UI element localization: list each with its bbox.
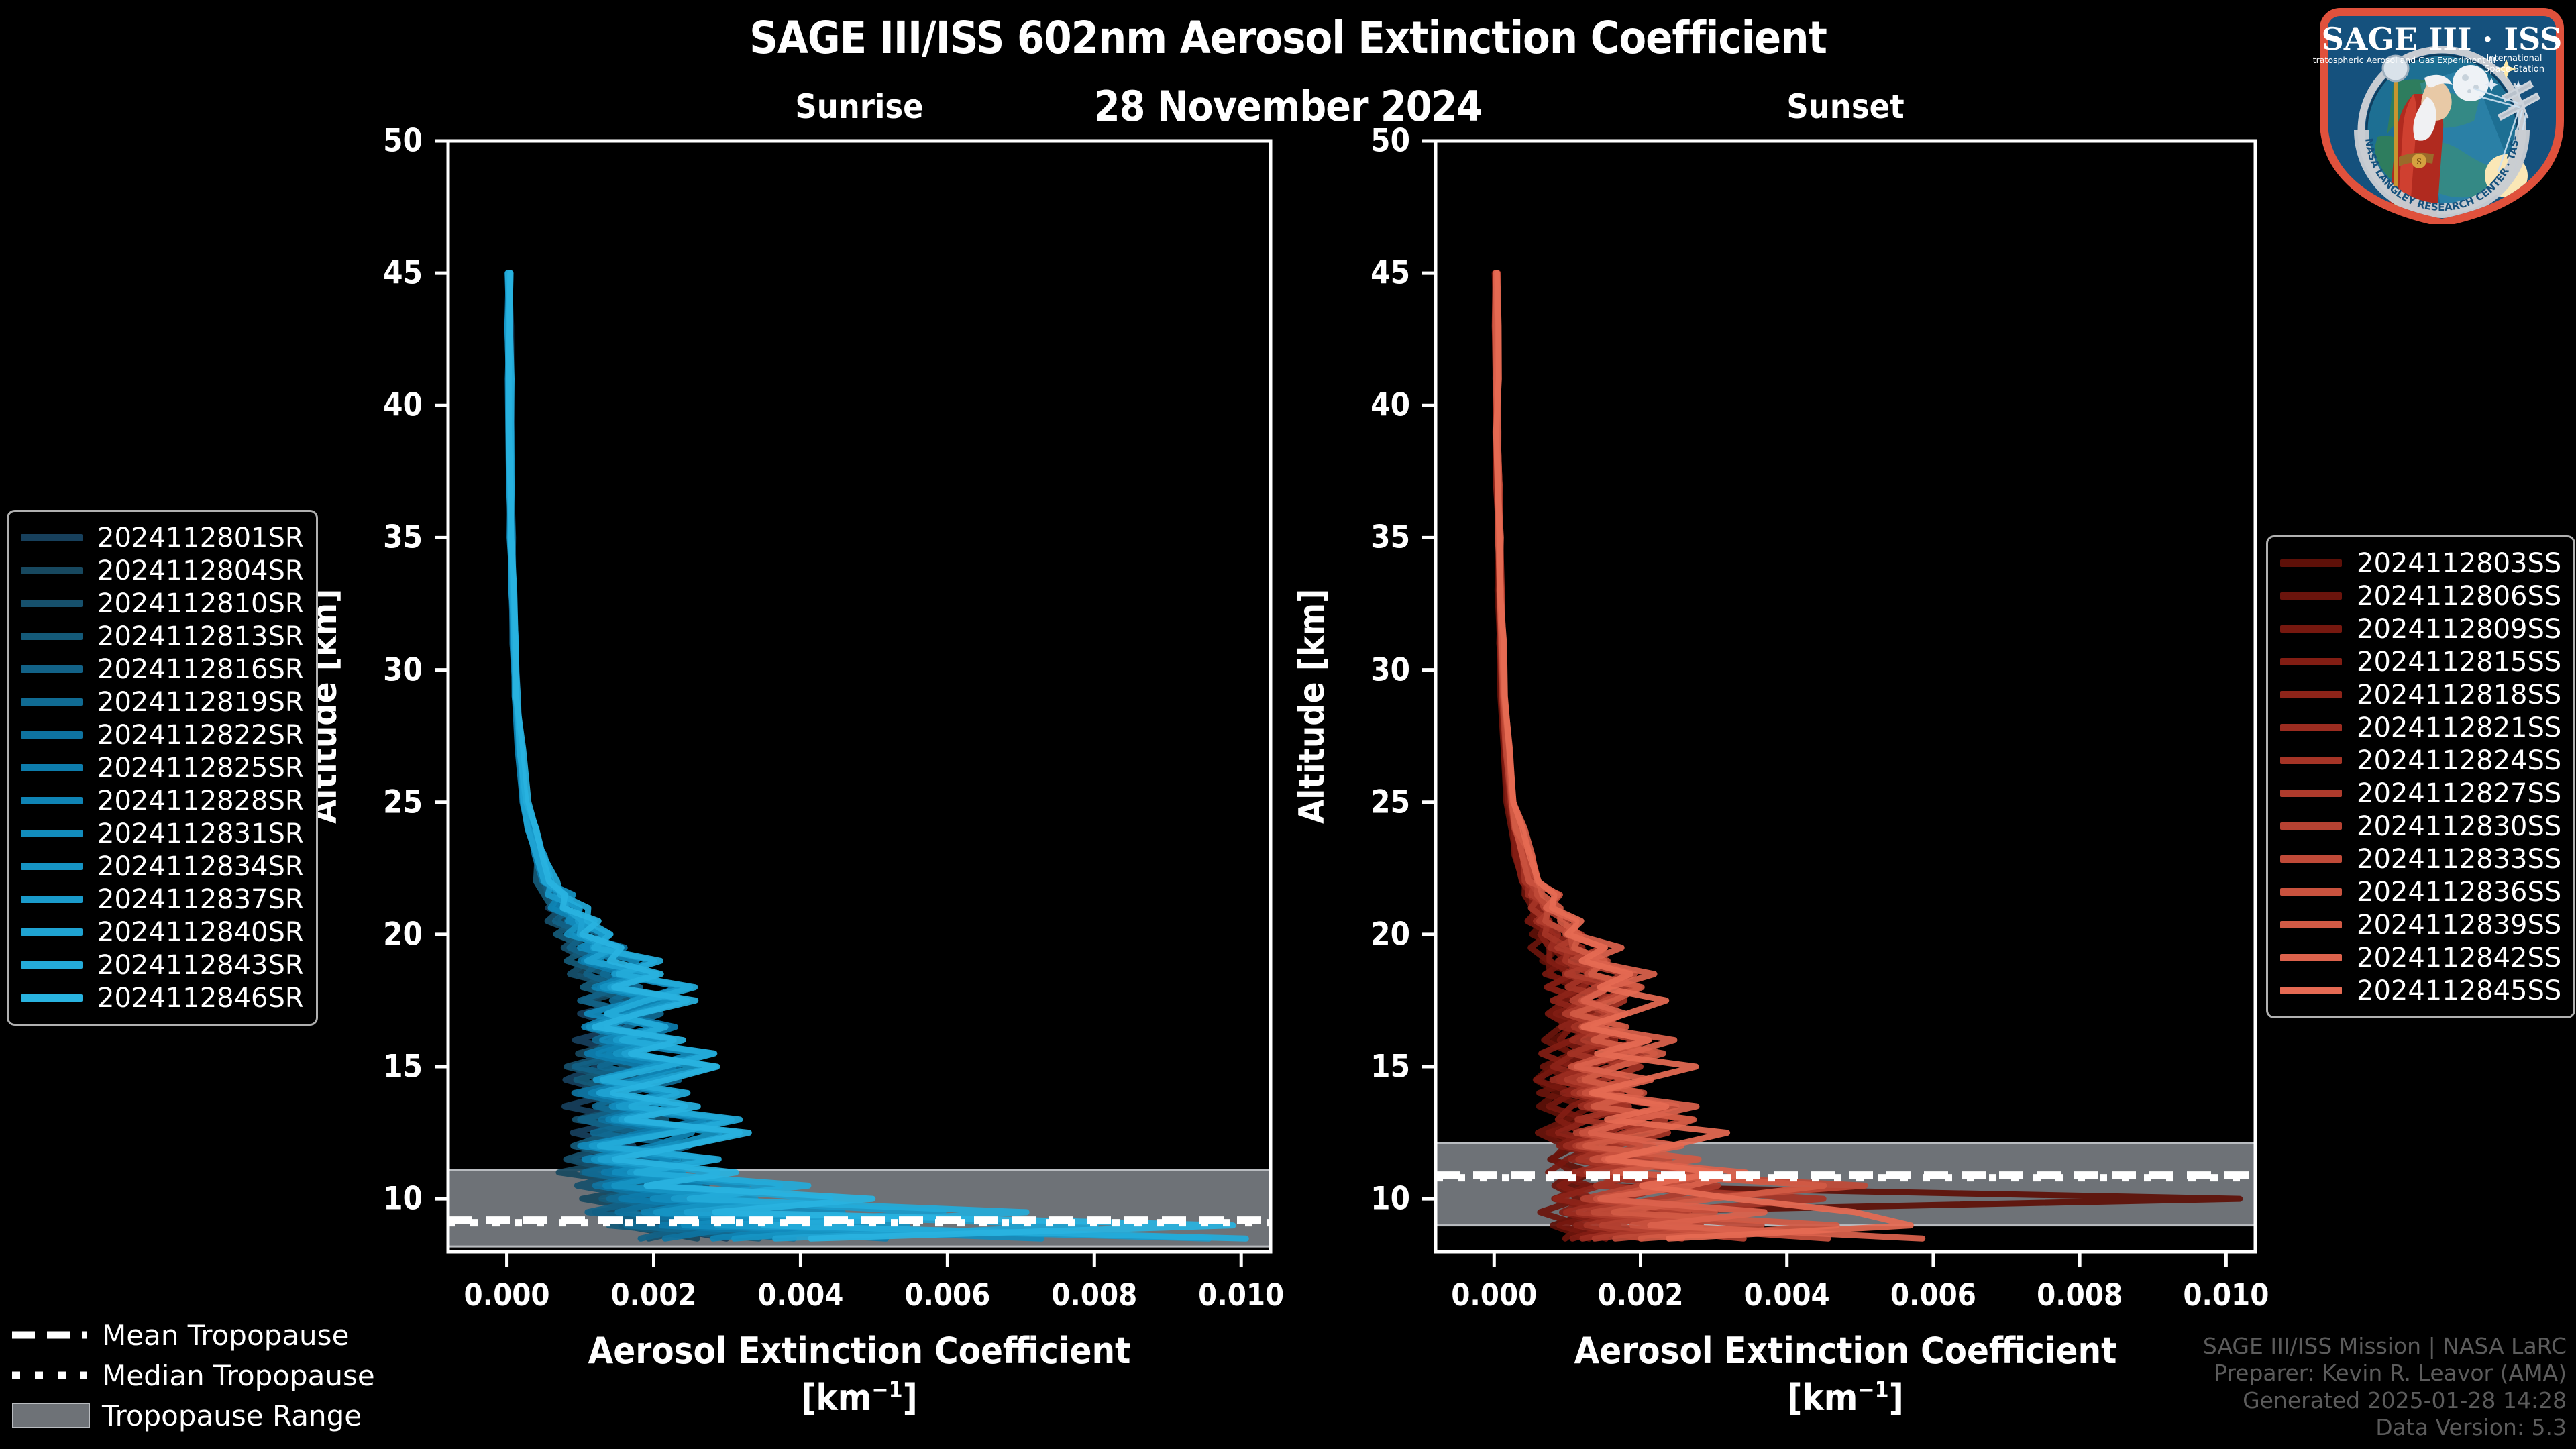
legend-sunrise-item[interactable]: 2024112831SR [21,817,304,850]
legend-color-swatch [2280,790,2342,797]
legend-label: 2024112821SS [2357,712,2561,743]
legend-sunrise-item[interactable]: 2024112801SR [21,521,304,554]
legend-label: 2024112836SS [2357,877,2561,908]
svg-text:S: S [2416,157,2422,166]
legend-sunrise-item[interactable]: 2024112843SR [21,949,304,981]
legend-item-tropopause-range: Tropopause Range [12,1395,375,1436]
dashed-line-icon [12,1326,87,1344]
logo-moon [2453,65,2489,101]
legend-sunset-item[interactable]: 2024112806SS [2280,580,2561,612]
y-tick-label: 20 [335,916,423,953]
credit-line-version: Data Version: 5.3 [2203,1414,2567,1441]
legend-color-swatch [21,830,83,837]
legend-label: 2024112846SR [97,983,304,1014]
legend-color-swatch [21,863,83,870]
legend-color-swatch [21,928,83,936]
y-tick-label: 45 [1323,255,1410,292]
legend-label: 2024112804SR [97,555,304,586]
legend-sunrise-item[interactable]: 2024112840SR [21,916,304,949]
x-tick-label: 0.010 [1154,1277,1328,1313]
legend-color-swatch [21,961,83,969]
legend-sunrise-item[interactable]: 2024112816SR [21,653,304,686]
x-axis-unit: [km−1] [1436,1377,2255,1419]
legend-sunset[interactable]: 2024112803SS2024112806SS2024112809SS2024… [2266,535,2575,1018]
y-tick-label: 30 [1323,651,1410,688]
legend-label: 2024112819SR [97,687,304,718]
legend-label: 2024112840SR [97,917,304,948]
legend-sunset-item[interactable]: 2024112827SS [2280,777,2561,810]
legend-sunrise-item[interactable]: 2024112825SR [21,751,304,784]
legend-label-mean-tropopause: Mean Tropopause [102,1319,349,1352]
legend-label: 2024112828SR [97,786,304,816]
legend-label: 2024112822SR [97,720,304,751]
legend-sunrise-item[interactable]: 2024112837SR [21,883,304,916]
legend-label: 2024112833SS [2357,844,2561,875]
y-tick-label: 45 [335,255,423,292]
y-tick-label: 40 [1323,387,1410,424]
y-tick-label: 40 [335,387,423,424]
legend-sunrise-item[interactable]: 2024112810SR [21,587,304,620]
legend-sunset-item[interactable]: 2024112845SS [2280,974,2561,1007]
y-axis-label: Altitude [km] [1292,589,1332,824]
legend-label: 2024112816SR [97,654,304,685]
legend-label-median-tropopause: Median Tropopause [102,1359,375,1392]
legend-sunrise-item[interactable]: 2024112834SR [21,850,304,883]
legend-label: 2024112827SS [2357,778,2561,809]
y-tick-label: 50 [335,123,423,160]
y-tick-label: 20 [1323,916,1410,953]
legend-color-swatch [21,665,83,673]
legend-label: 2024112834SR [97,851,304,882]
y-tick-label: 30 [335,651,423,688]
legend-sunset-item[interactable]: 2024112821SS [2280,711,2561,744]
y-tick-label: 15 [335,1049,423,1085]
legend-color-swatch [2280,592,2342,600]
legend-label: 2024112806SS [2357,581,2561,612]
legend-sunset-item[interactable]: 2024112803SS [2280,547,2561,580]
legend-color-swatch [21,633,83,640]
y-tick-label: 25 [335,784,423,820]
legend-label: 2024112839SS [2357,910,2561,941]
legend-label: 2024112830SS [2357,811,2561,842]
legend-sunset-item[interactable]: 2024112836SS [2280,875,2561,908]
legend-sunset-item[interactable]: 2024112830SS [2280,810,2561,843]
y-tick-label: 10 [335,1181,423,1218]
y-tick-label: 25 [1323,784,1410,820]
legend-label: 2024112845SS [2357,975,2561,1006]
legend-label: 2024112843SR [97,950,304,981]
y-tick-label: 35 [335,519,423,556]
legend-color-swatch [2280,987,2342,994]
legend-sunset-item[interactable]: 2024112809SS [2280,612,2561,645]
range-patch-icon [12,1407,87,1424]
legend-color-swatch [21,797,83,804]
legend-color-swatch [2280,921,2342,928]
legend-color-swatch [21,534,83,541]
legend-tropopause: Mean Tropopause Median Tropopause Tropop… [12,1315,375,1436]
legend-color-swatch [2280,757,2342,764]
legend-color-swatch [21,698,83,706]
legend-label: 2024112818SS [2357,680,2561,710]
legend-color-swatch [21,896,83,903]
legend-sunset-item[interactable]: 2024112839SS [2280,908,2561,941]
axis-text-layer: 1015202530354045500.0000.0020.0040.0060.… [0,0,2576,1449]
credit-line-preparer: Preparer: Kevin R. Leavor (AMA) [2203,1360,2567,1387]
legend-color-swatch [21,994,83,1002]
legend-label: 2024112815SS [2357,647,2561,678]
legend-sunset-item[interactable]: 2024112824SS [2280,744,2561,777]
credit-block: SAGE III/ISS Mission | NASA LaRC Prepare… [2203,1333,2567,1441]
dotted-line-icon [12,1366,87,1384]
legend-sunset-item[interactable]: 2024112842SS [2280,941,2561,974]
legend-label: 2024112809SS [2357,614,2561,645]
logo-title: SAGE III · ISS [2322,21,2563,57]
legend-color-swatch [2280,822,2342,830]
legend-item-mean-tropopause: Mean Tropopause [12,1315,375,1355]
credit-line-generated: Generated 2025-01-28 14:28 [2203,1387,2567,1414]
legend-item-median-tropopause: Median Tropopause [12,1355,375,1395]
y-tick-label: 15 [1323,1049,1410,1085]
legend-color-swatch [2280,625,2342,633]
legend-label: 2024112803SS [2357,548,2561,579]
legend-label: 2024112842SS [2357,943,2561,973]
legend-sunrise-item[interactable]: 2024112822SR [21,718,304,751]
legend-color-swatch [21,764,83,771]
x-axis-unit: [km−1] [448,1377,1271,1419]
legend-color-swatch [2280,888,2342,896]
y-tick-label: 35 [1323,519,1410,556]
legend-color-swatch [2280,559,2342,567]
legend-color-swatch [2280,855,2342,863]
legend-color-swatch [21,567,83,574]
legend-sunrise-item[interactable]: 2024112846SR [21,981,304,1014]
legend-sunrise-item[interactable]: 2024112813SR [21,620,304,653]
y-tick-label: 50 [1323,123,1410,160]
legend-color-swatch [2280,954,2342,961]
legend-sunset-item[interactable]: 2024112815SS [2280,645,2561,678]
x-axis-label: Aerosol Extinction Coefficient [448,1330,1271,1372]
x-axis-label: Aerosol Extinction Coefficient [1436,1330,2255,1372]
y-tick-label: 10 [1323,1181,1410,1218]
legend-sunset-item[interactable]: 2024112818SS [2280,678,2561,711]
legend-sunrise-item[interactable]: 2024112828SR [21,784,304,817]
logo-subtitle-left: Stratospheric Aerosol and Gas Experiment… [2313,55,2495,65]
legend-label: 2024112831SR [97,818,304,849]
legend-color-swatch [21,731,83,739]
legend-color-swatch [2280,691,2342,698]
legend-color-swatch [2280,724,2342,731]
legend-label-tropopause-range: Tropopause Range [102,1399,362,1432]
credit-line-mission: SAGE III/ISS Mission | NASA LaRC [2203,1333,2567,1360]
legend-label: 2024112801SR [97,523,304,553]
logo-subtitle-right-2: Space Station [2484,64,2544,74]
legend-label: 2024112824SS [2357,745,2561,776]
legend-sunset-item[interactable]: 2024112833SS [2280,843,2561,875]
logo-subtitle-right-1: International [2487,54,2542,64]
legend-color-swatch [2280,658,2342,665]
legend-sunrise[interactable]: 2024112801SR2024112804SR2024112810SR2024… [7,510,318,1026]
legend-label: 2024112813SR [97,621,304,652]
legend-sunrise-item[interactable]: 2024112804SR [21,554,304,587]
legend-sunrise-item[interactable]: 2024112819SR [21,686,304,718]
legend-label: 2024112837SR [97,884,304,915]
x-tick-label: 0.010 [2139,1277,2313,1313]
legend-color-swatch [21,600,83,607]
sage-iii-iss-mission-patch: S BALL · NASA LANGLEY RESEARCH CENTER · … [2313,3,2571,224]
legend-label: 2024112825SR [97,753,304,784]
legend-label: 2024112810SR [97,588,304,619]
